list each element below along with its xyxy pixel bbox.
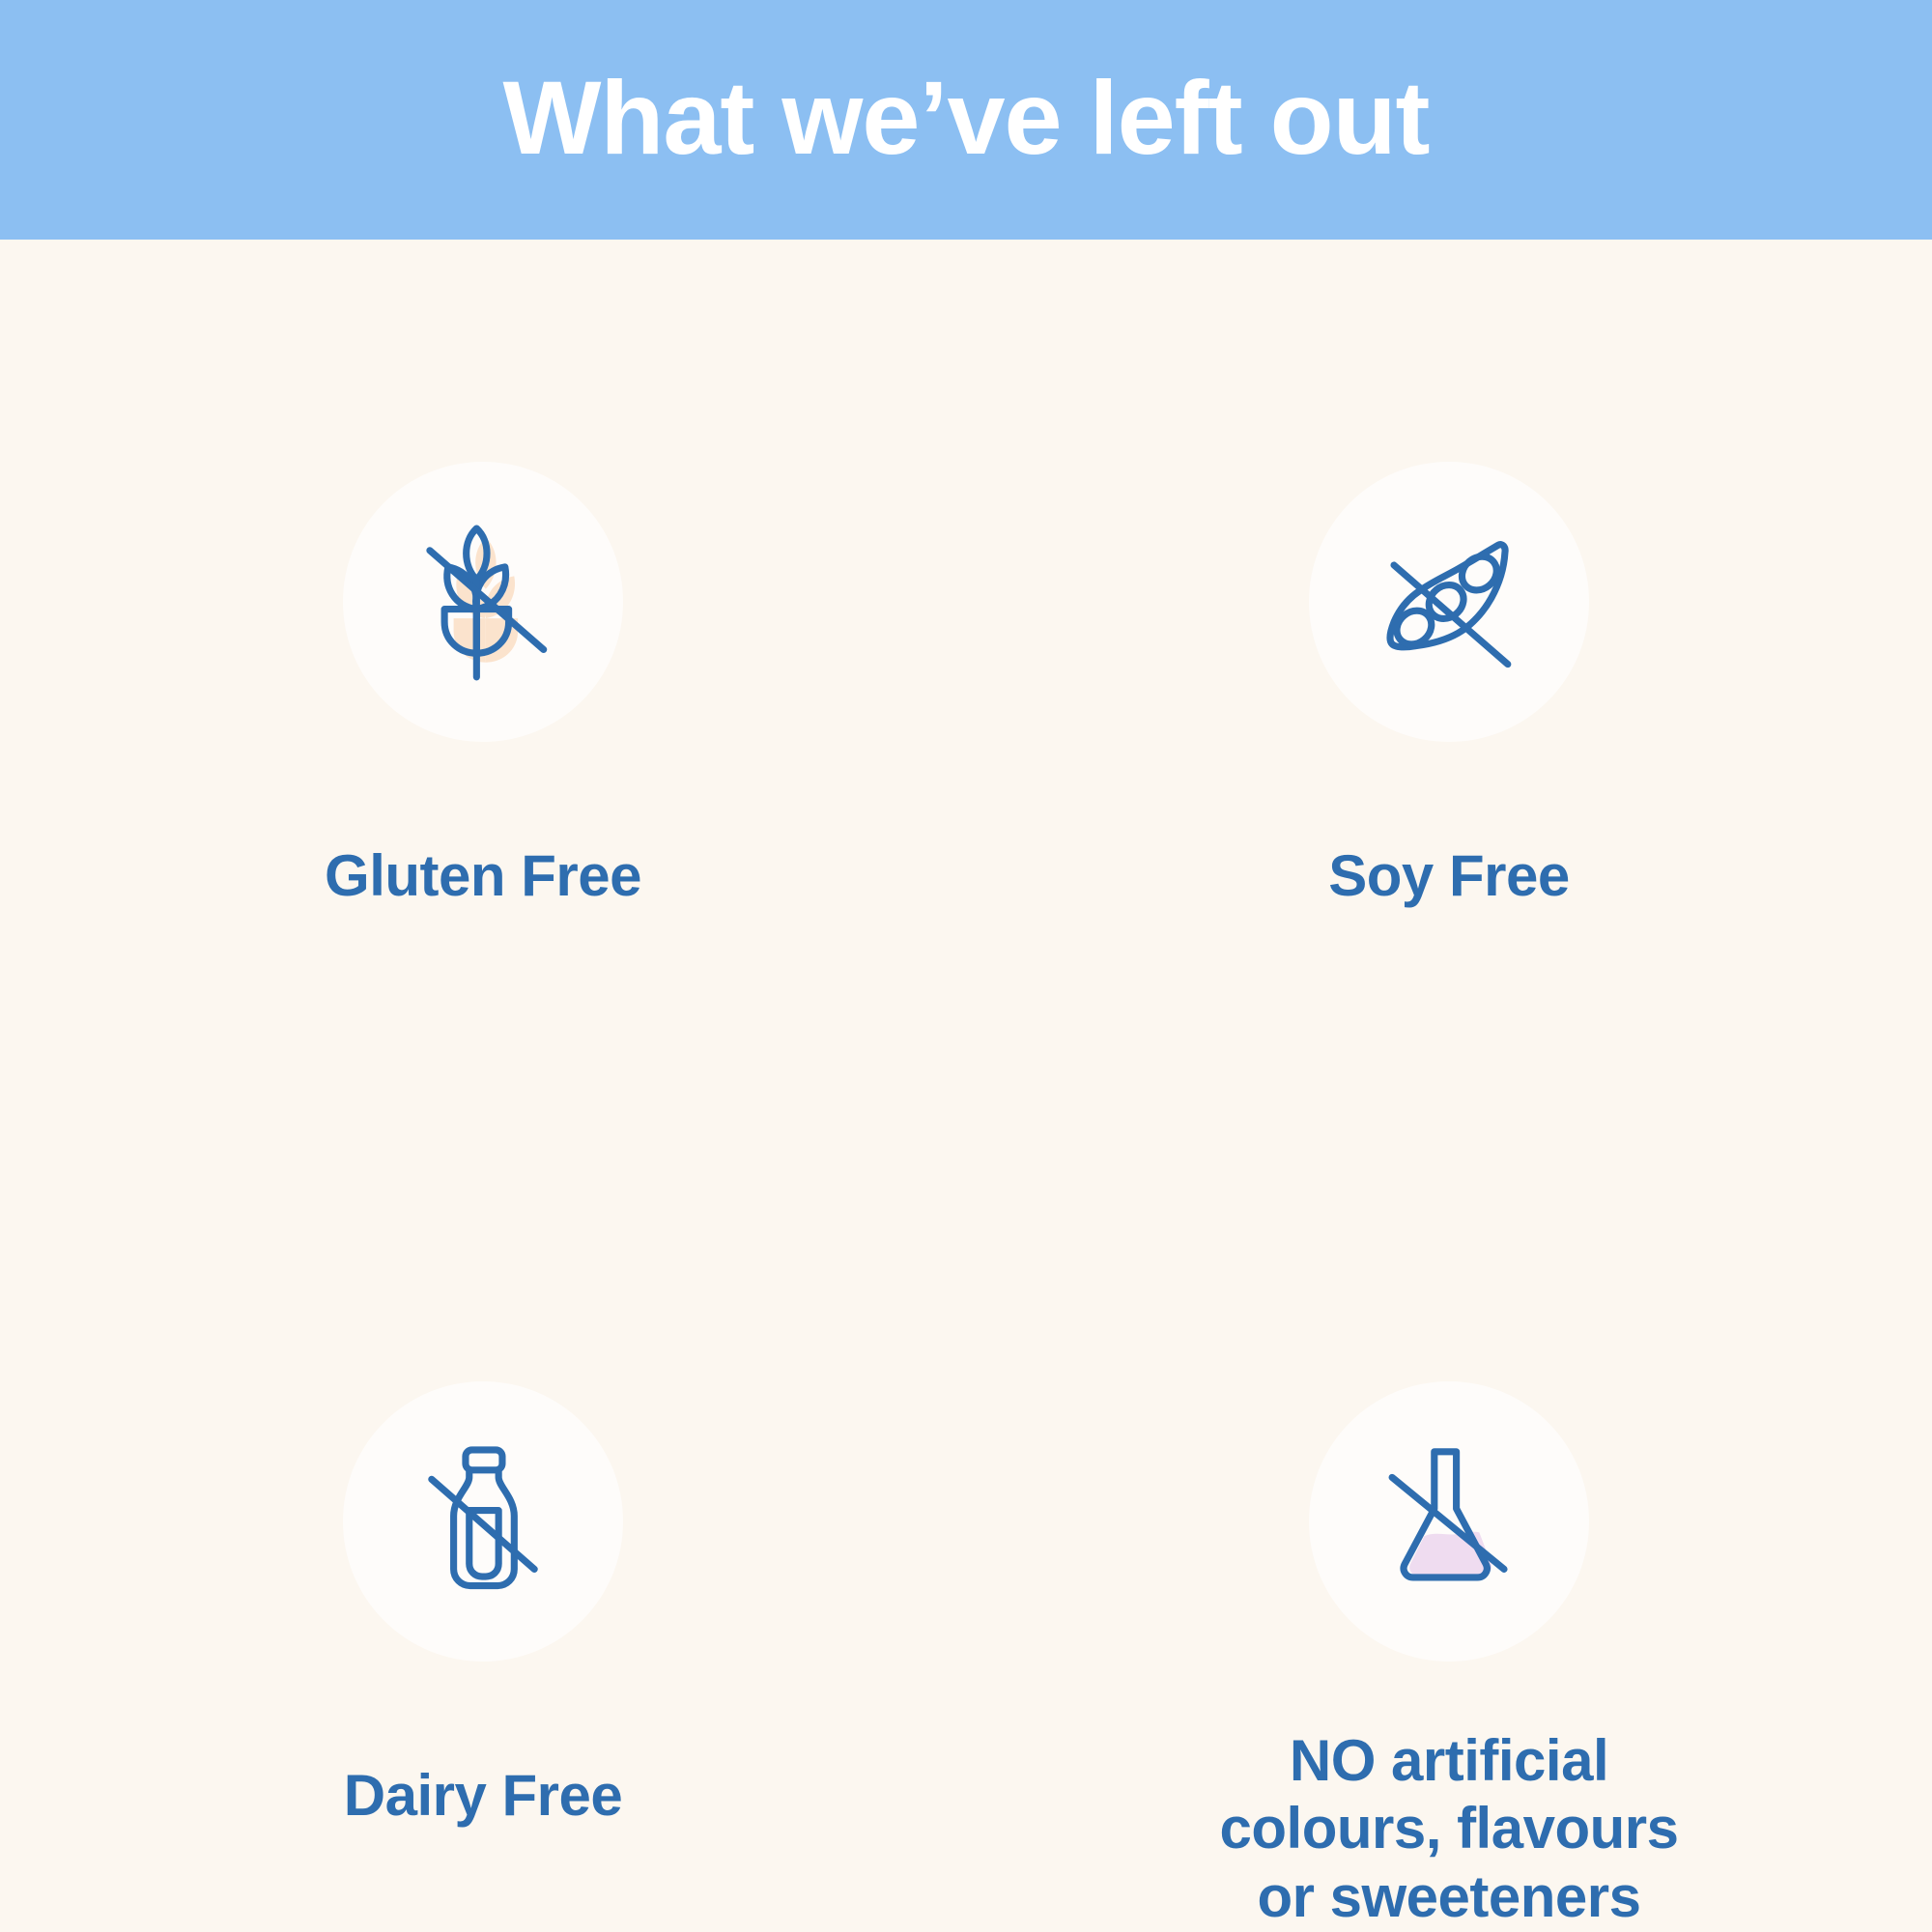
badge-gluten-free: Gluten Free [0,240,966,947]
erlenmeyer-flask-crossed-out-icon [1357,1430,1541,1613]
badge-soy-free: Soy Free [966,240,1932,947]
badge-grid: Gluten Free Soy Free [0,240,1932,1932]
soybean-pod-crossed-out-icon [1357,510,1541,694]
icon-circle-no-artificial [1309,1381,1589,1662]
icon-circle-dairy [343,1381,623,1662]
badge-label-dairy-free: Dairy Free [344,1762,623,1831]
icon-circle-soy [1309,462,1589,742]
milk-bottle-crossed-out-icon [391,1430,575,1613]
infographic-page: What we’ve left out [0,0,1932,1932]
page-title: What we’ve left out [502,66,1429,170]
badge-label-soy-free: Soy Free [1328,842,1569,911]
badge-label-no-artificial: NO artificial colours, flavours or sweet… [1220,1727,1679,1932]
badge-label-gluten-free: Gluten Free [325,842,641,911]
header-banner: What we’ve left out [0,0,1932,240]
icon-circle-gluten [343,462,623,742]
wheat-crossed-out-icon [391,510,575,694]
badge-dairy-free: Dairy Free [0,947,966,1932]
badge-no-artificial: NO artificial colours, flavours or sweet… [966,947,1932,1932]
